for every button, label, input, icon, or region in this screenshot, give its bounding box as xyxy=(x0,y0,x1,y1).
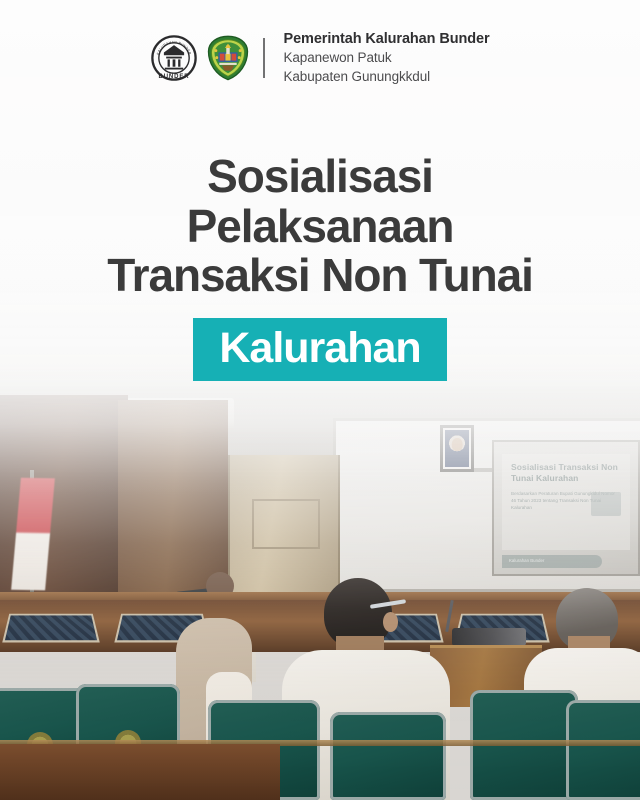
brand-line-2: Kapanewon Patuk xyxy=(284,49,490,67)
brand-text-block: Pemerintah Kalurahan Bunder Kapanewon Pa… xyxy=(284,30,490,86)
gunungkidul-regency-emblem-icon xyxy=(206,35,250,81)
brand-header: BUNDER KALURAHAN BUNDER xyxy=(0,30,640,86)
brand-line-1: Pemerintah Kalurahan Bunder xyxy=(284,30,490,49)
bunder-village-seal-icon: BUNDER KALURAHAN BUNDER xyxy=(151,35,197,81)
title-line-1: Sosialisasi xyxy=(0,152,640,202)
kalurahan-badge-label: Kalurahan xyxy=(219,327,420,370)
title-line-2: Pelaksanaan xyxy=(0,202,640,252)
poster-content: BUNDER KALURAHAN BUNDER xyxy=(0,0,640,800)
title-line-3: Transaksi Non Tunai xyxy=(0,251,640,301)
brand-divider xyxy=(263,38,265,78)
poster-title: Sosialisasi Pelaksanaan Transaksi Non Tu… xyxy=(0,152,640,301)
kalurahan-badge: Kalurahan xyxy=(193,318,446,381)
kalurahan-badge-wrap: Kalurahan xyxy=(0,318,640,381)
brand-line-3: Kabupaten Gunungkkdul xyxy=(284,68,490,86)
poster-canvas: Sosialisasi Transaksi Non Tunai Kaluraha… xyxy=(0,0,640,800)
svg-text:BUNDER: BUNDER xyxy=(158,74,189,80)
